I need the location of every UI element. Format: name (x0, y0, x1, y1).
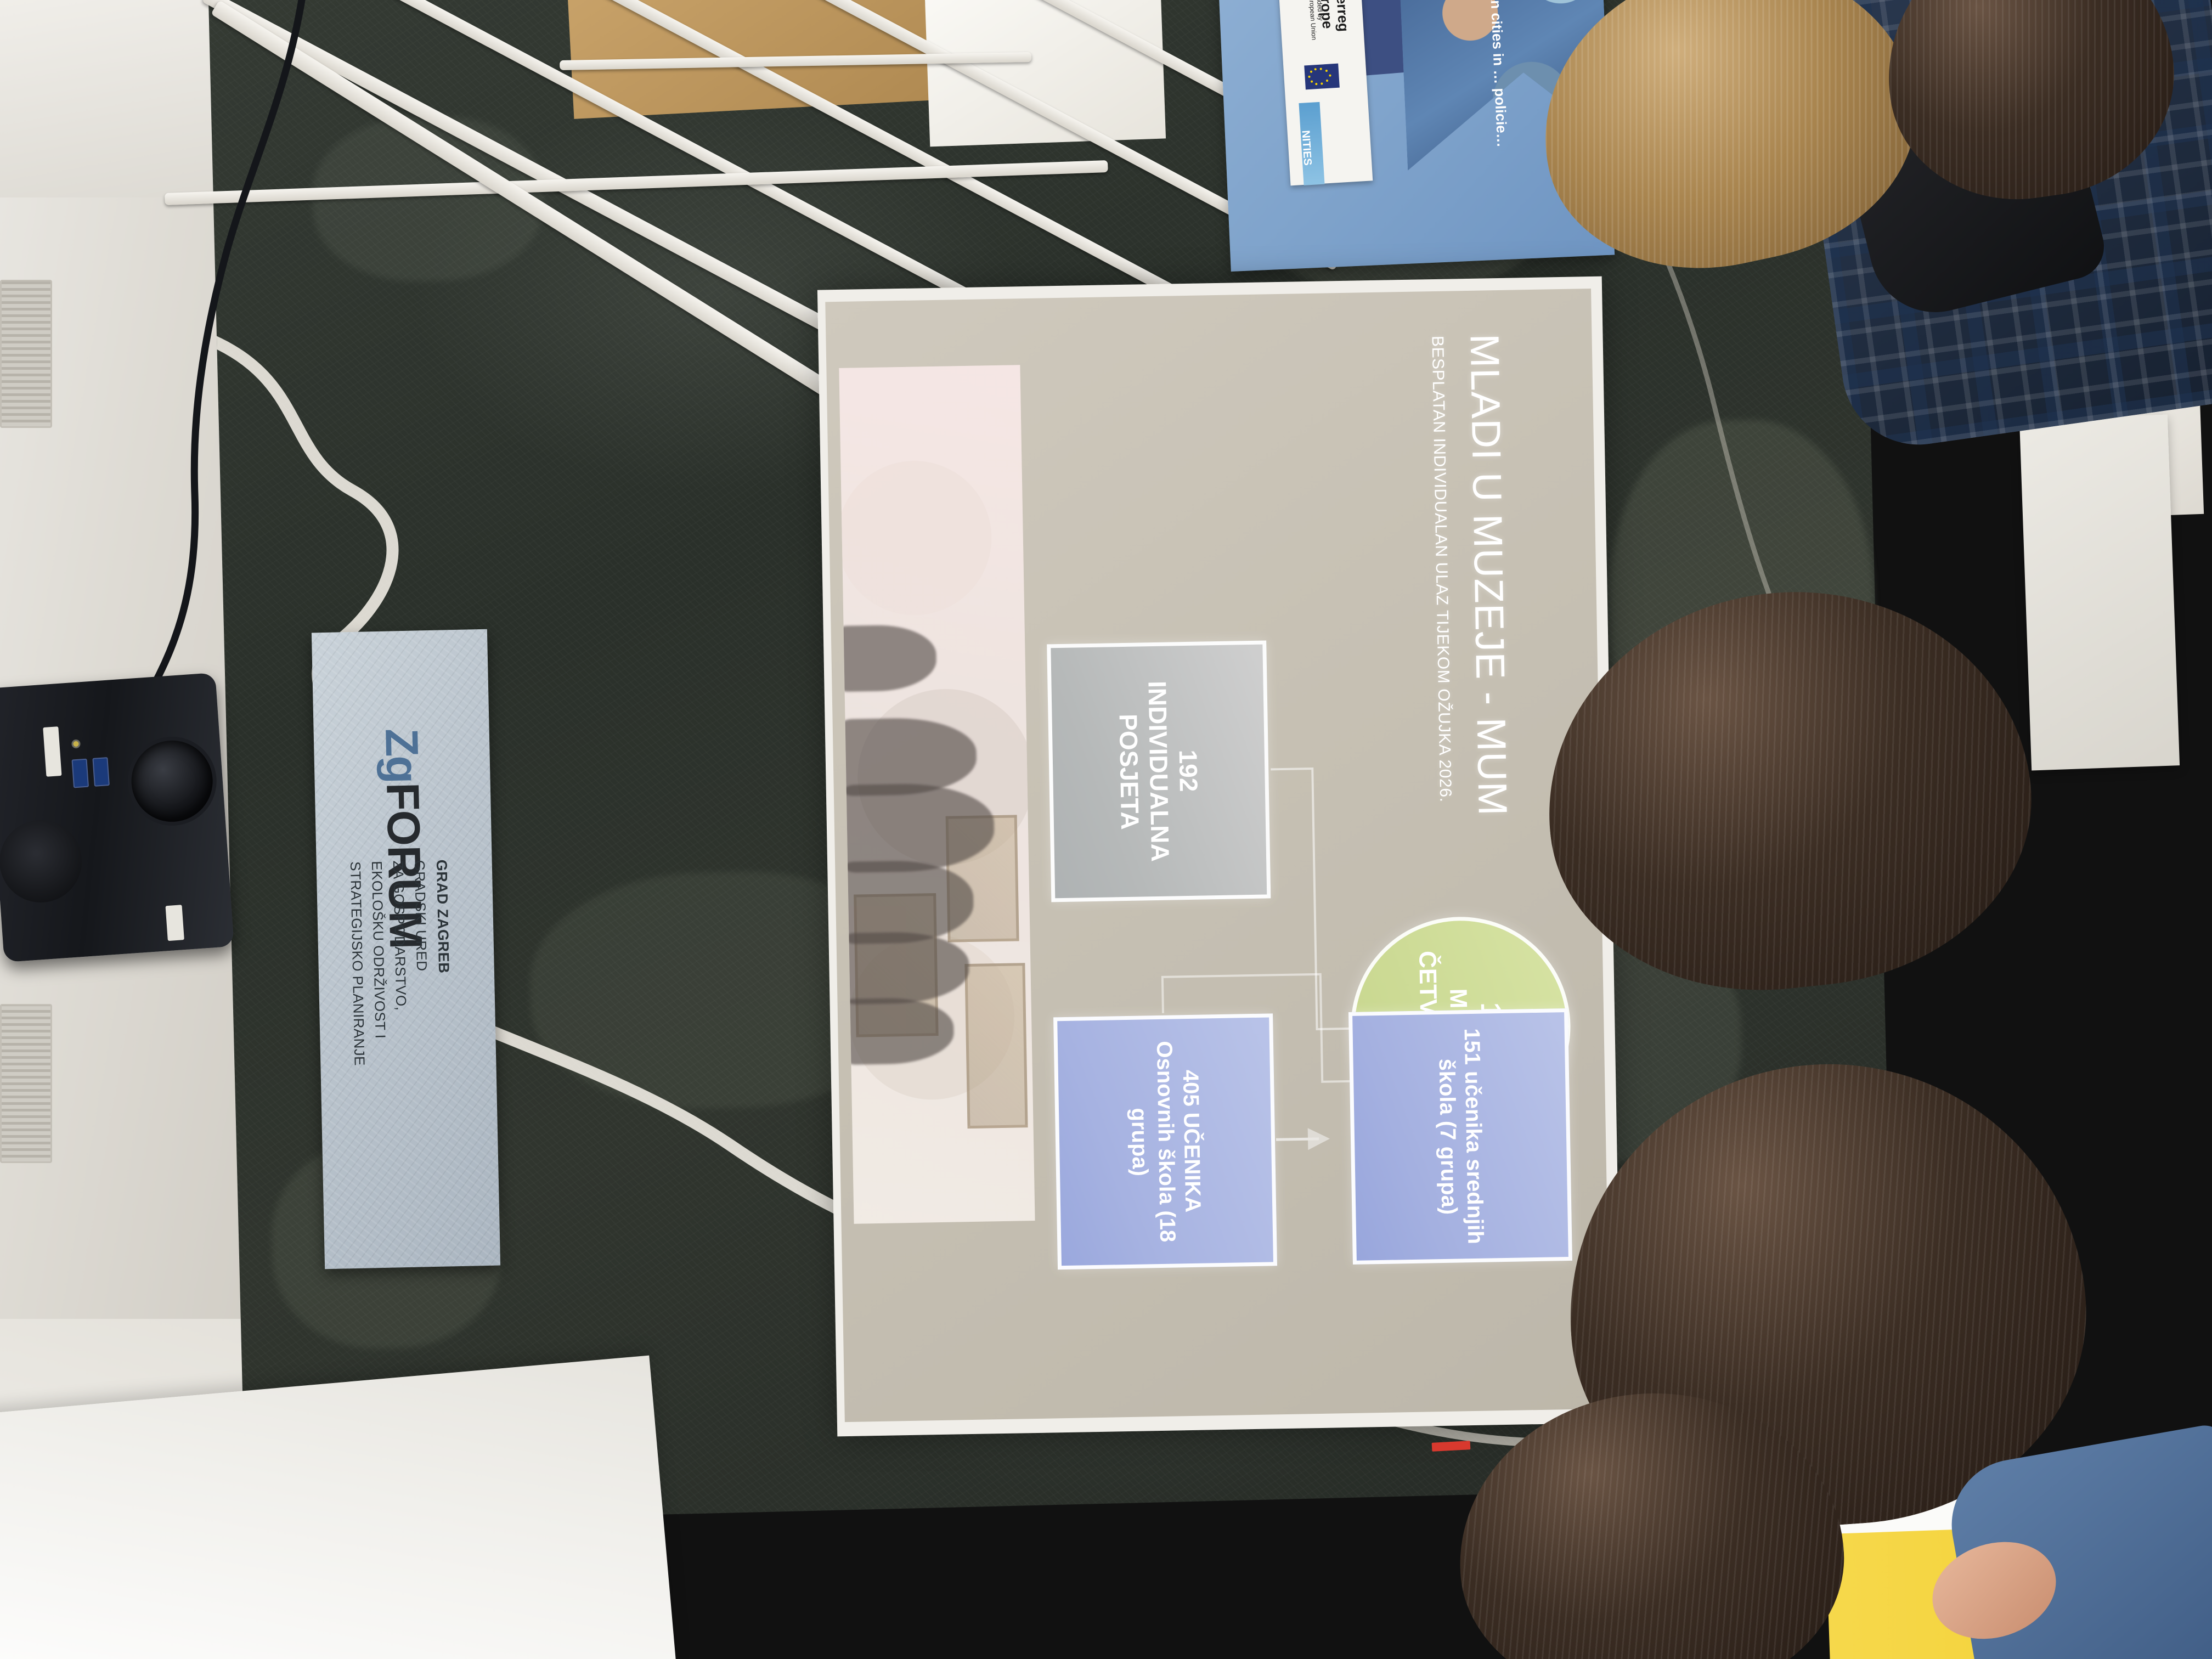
slide-content: MLADI U MUZEJE - MUM BESPLATAN INDIVIDUA… (827, 289, 1609, 1421)
white-storage-box (924, 0, 1166, 146)
projector-body (0, 673, 234, 962)
projector[interactable]: HDMI InFocus (0, 673, 234, 962)
metric-box-individual-visits: 192 INDIVIDUALNA POSJETA (1047, 640, 1271, 902)
eu-cofunding-note: Co-funded by the European Union (1306, 0, 1325, 40)
projected-slide: MLADI U MUZEJE - MUM BESPLATAN INDIVIDUA… (825, 289, 1610, 1422)
projector-sticker-side (165, 905, 184, 941)
project-name-label: NITIES (1299, 130, 1314, 166)
air-vent-upper (0, 280, 52, 428)
zgforum-poster: ZgFORUM GRAD ZAGREB GRADSKI URED ZA GOSP… (312, 629, 500, 1269)
eu-flag-icon (1304, 64, 1340, 90)
projector-port-vga-1[interactable] (71, 759, 89, 788)
box-text-secondary-school: 151 učenika srednjih škola (7 grupa) (1432, 1026, 1488, 1248)
slide-photo-museum (839, 365, 1035, 1224)
zgforum-organisation-block: GRAD ZAGREB GRADSKI URED ZA GOSPODARSTVO… (345, 859, 461, 1269)
interreg-logo-badge: Interreg Europe Co-funded by the Europea… (1277, 0, 1373, 185)
projection-screen: MLADI U MUZEJE - MUM BESPLATAN INDIVIDUA… (817, 276, 1622, 1437)
zgforum-logo-prefix: Zg (376, 728, 428, 783)
projector-port-vga-2[interactable] (92, 757, 110, 787)
wall-panel-right (2019, 414, 2180, 770)
box-text-individual-visits: 192 INDIVIDUALNA POSJETA (1112, 658, 1205, 885)
project-name-bar: NITIES (1299, 102, 1324, 185)
metric-box-secondary-school: 151 učenika srednjih škola (7 grupa) (1348, 1008, 1572, 1265)
room-photo-scene: HDMI InFocus ZgFORUM GRAD ZAGREB GRADSKI… (0, 0, 2212, 1659)
air-vent-lower (0, 1004, 52, 1163)
metric-box-primary-school: 405 UČENIKA Osnovnih škola (18 grupa) (1053, 1013, 1277, 1269)
box-text-primary-school: 405 UČENIKA Osnovnih škola (18 grupa) (1125, 1031, 1206, 1252)
